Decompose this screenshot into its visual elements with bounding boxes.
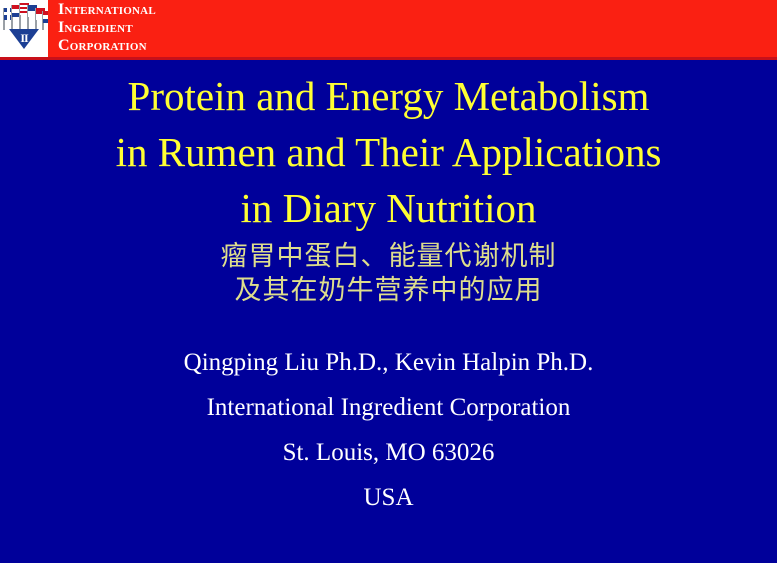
chinese-subtitle: 瘤胃中蛋白、能量代谢机制 及其在奶牛营养中的应用 [0,240,777,308]
company-logo: II [0,0,48,57]
affiliation-organization: International Ingredient Corporation [0,385,777,430]
title-line-1: Protein and Energy Metabolism [0,68,777,124]
header-divider-rule [0,57,777,60]
flags-icon [3,2,45,30]
chinese-subtitle-line-2: 及其在奶牛营养中的应用 [0,274,777,308]
logo-monogram: II [9,31,39,46]
affiliation-city-state-zip: St. Louis, MO 63026 [0,430,777,475]
title-line-3: in Diary Nutrition [0,180,777,236]
chinese-subtitle-line-1: 瘤胃中蛋白、能量代谢机制 [0,240,777,274]
presentation-slide: II International Ingredient Corporation … [0,0,777,563]
company-name-line-3: Corporation [58,37,318,55]
company-name: International Ingredient Corporation [58,1,318,55]
company-name-line-1: International [58,1,318,19]
title-line-2: in Rumen and Their Applications [0,124,777,180]
author-names: Qingping Liu Ph.D., Kevin Halpin Ph.D. [0,340,777,385]
affiliation-country: USA [0,475,777,520]
company-name-line-2: Ingredient [58,19,318,37]
slide-title: Protein and Energy Metabolism in Rumen a… [0,68,777,236]
author-affiliation-block: Qingping Liu Ph.D., Kevin Halpin Ph.D. I… [0,340,777,520]
